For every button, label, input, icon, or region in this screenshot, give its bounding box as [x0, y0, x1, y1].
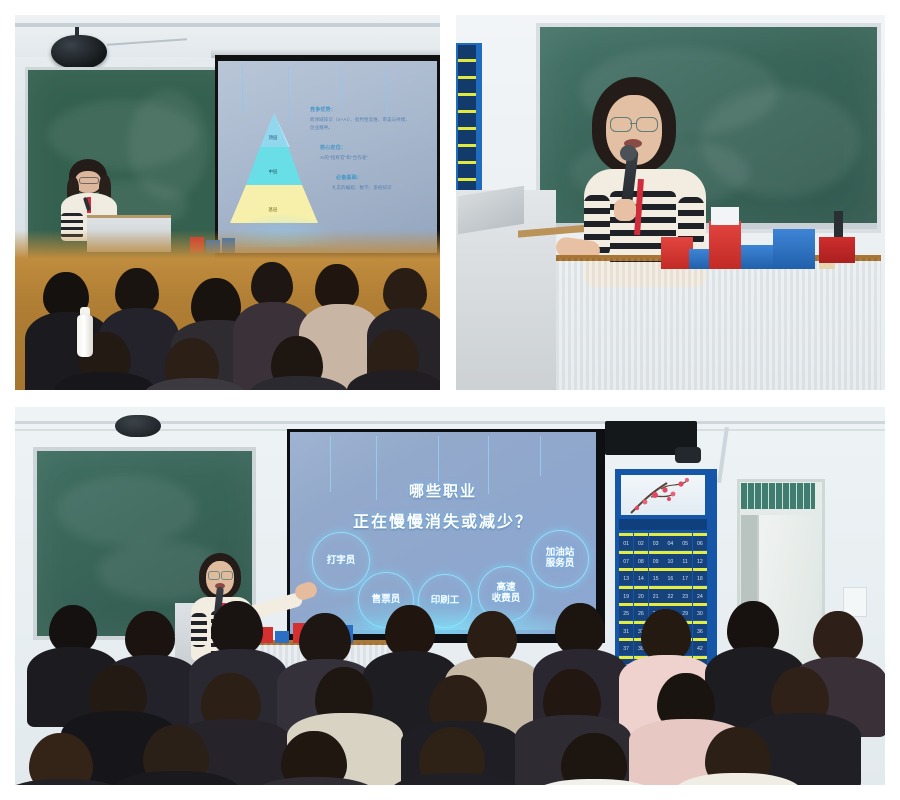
pocket-chart-cell: 03 — [649, 533, 663, 550]
ceiling-speaker-icon — [51, 35, 107, 69]
photo-collage: 顶层 中层 基层 竞争优势： 跨领域知识（X+AI）、批判性思维、审美与共情、 … — [0, 0, 900, 800]
eyeglasses-icon — [208, 571, 232, 578]
pyramid-block-heading-1: 核心定位： — [320, 145, 346, 152]
phone-pocket-chart-pockets — [458, 45, 476, 201]
transom-window — [741, 483, 815, 509]
eyeglasses-icon — [610, 117, 658, 130]
pyramid-block-line-0-0: 跨领域知识（X+AI）、批判性思维、审美与共情、 — [310, 117, 410, 123]
pocket-chart-cell: 17 — [678, 568, 692, 585]
pyramid-block-line-2-0: 扎实的编程、数学、系统知识 — [332, 185, 392, 191]
pocket-chart-cell: 16 — [663, 568, 677, 585]
water-bottle — [77, 315, 93, 357]
pocket-chart-cell: 18 — [693, 568, 707, 585]
career-bubble-gas-attendant: 加油站 服务员 — [531, 530, 589, 588]
career-bubble-label: 加油站 服务员 — [546, 548, 575, 569]
svg-text:基层: 基层 — [269, 206, 278, 213]
audience-group — [15, 220, 440, 390]
pocket-chart-cell: 15 — [649, 568, 663, 585]
pocket-chart-cell: 01 — [619, 533, 633, 550]
pocket-chart-cell: 05 — [678, 533, 692, 550]
pocket-chart-cell: 09 — [649, 551, 663, 568]
pyramid-block-line-0-1: 创业精神。 — [310, 125, 333, 131]
photo-lecturer-closeup-with-microphone — [456, 15, 885, 390]
svg-text:中层: 中层 — [269, 168, 278, 175]
red-case — [819, 237, 855, 263]
hand-holding-mic — [614, 199, 636, 221]
pocket-chart-cell: 14 — [634, 568, 648, 585]
microphone-stand — [834, 211, 843, 239]
pocket-chart-cell: 04 — [663, 533, 677, 550]
pyramid-block-heading-2: 必备基础： — [336, 175, 362, 182]
slide-title-line-2: 正在慢慢消失或减少？ — [290, 508, 596, 532]
pocket-chart-cell: 08 — [634, 551, 648, 568]
wooden-podium — [556, 258, 881, 390]
photo-lecture-room-panorama: 哪些职业 正在慢慢消失或减少？ 打字员 售票员 印刷工 高速 收费员 加油站 服… — [15, 407, 885, 785]
career-bubble-label: 打字员 — [327, 556, 356, 567]
pocket-chart-cell: 06 — [693, 533, 707, 550]
audience-group — [15, 595, 885, 785]
pocket-chart-cell: 07 — [619, 551, 633, 568]
photo-lecturer-at-podium-wide: 顶层 中层 基层 竞争优势： 跨领域知识（X+AI）、批判性思维、审美与共情、 … — [15, 15, 440, 390]
eyeglasses-icon — [79, 177, 99, 184]
pocket-chart-cell: 10 — [663, 551, 677, 568]
pocket-chart-cell: 12 — [693, 551, 707, 568]
pocket-chart-header-band — [619, 519, 707, 530]
plum-blossom-artwork — [621, 475, 705, 515]
pocket-chart-cell: 13 — [619, 568, 633, 585]
pocket-chart-cell: 11 — [678, 551, 692, 568]
pyramid-block-heading-0: 竞争优势： — [310, 107, 336, 114]
ceiling-speaker-icon — [115, 415, 161, 437]
projector-lens-icon — [675, 447, 701, 463]
career-bubble-typist: 打字员 — [312, 532, 370, 590]
pocket-chart-cell: 02 — [634, 533, 648, 550]
pyramid-block-line-1-0: AI的"指挥官"和"合作者" — [320, 155, 368, 161]
slide-title-line-1: 哪些职业 — [290, 480, 596, 501]
